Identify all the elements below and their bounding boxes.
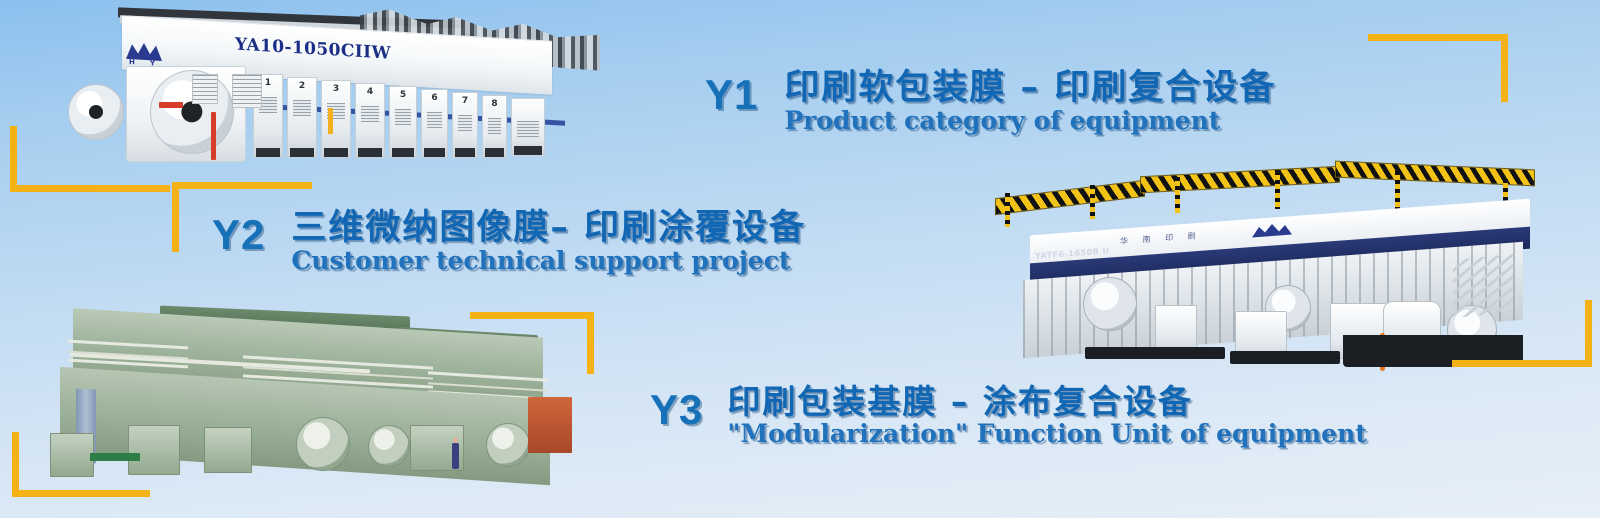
- press-unit-foot: [514, 146, 542, 155]
- y3-title-en: "Modularization" Function Unit of equipm…: [727, 421, 1366, 447]
- bracket-line-vertical: [10, 126, 17, 192]
- press-print-units: 1 2 3 4 5 6 7: [253, 74, 563, 166]
- safety-rail-post: [1395, 171, 1400, 211]
- y2-title-cn: 三维微纳图像膜– 印刷涂覆设备: [291, 210, 806, 247]
- press-control-panel-a: [192, 74, 218, 104]
- bracket-bottom-left: [12, 432, 150, 502]
- coater-roll: [486, 423, 530, 467]
- bracket-line-horizontal: [470, 312, 594, 319]
- laminator-brand-logo: [1250, 221, 1294, 240]
- text-group-y1: Y1 印刷软包装膜 – 印刷复合设备 Product category of e…: [705, 70, 1276, 134]
- bracket-line-horizontal: [1452, 360, 1592, 367]
- press-unit-number: 7: [453, 96, 477, 106]
- press-red-guard: [159, 102, 183, 108]
- press-unit-number: 4: [356, 87, 384, 97]
- press-brand-logo: H Y: [122, 39, 168, 68]
- bracket-line-horizontal: [12, 490, 150, 497]
- y1-title-cn: 印刷软包装膜 – 印刷复合设备: [784, 70, 1276, 107]
- coater-roll: [368, 425, 410, 467]
- press-unit-foot: [290, 148, 314, 157]
- press-unit: 6: [421, 89, 448, 158]
- press-unit-vent: [361, 106, 379, 122]
- press-unit-vent: [395, 109, 411, 125]
- y1-lines: 印刷软包装膜 – 印刷复合设备 Product category of equi…: [784, 70, 1276, 134]
- safety-rail-post: [1005, 193, 1010, 227]
- laminator-cabinet: [1155, 305, 1197, 353]
- reel-hub: [181, 101, 202, 122]
- press-unit-foot: [392, 148, 414, 157]
- press-yellow-marker: [328, 108, 333, 134]
- y2-title-en: Customer technical support project: [291, 248, 806, 274]
- bracket-top-right: [1368, 34, 1508, 108]
- press-unit: 4: [355, 83, 385, 158]
- press-unit-vent: [458, 115, 472, 131]
- press-unit: 7: [452, 92, 478, 158]
- y1-title-en: Product category of equipment: [784, 108, 1276, 134]
- banner-canvas: H Y YA10-1050CIIW 1 2 3 4: [0, 0, 1600, 518]
- bracket-line-horizontal: [1368, 34, 1508, 41]
- press-unit-foot: [424, 148, 445, 157]
- press-unit: 2: [287, 77, 317, 158]
- press-unit-number: 5: [390, 90, 416, 100]
- press-unit-foot: [358, 148, 382, 157]
- y3-title-cn: 印刷包装基膜 – 涂布复合设备: [727, 385, 1366, 420]
- safety-rail-post: [1275, 171, 1280, 209]
- press-unit-foot: [256, 148, 280, 157]
- bracket-line-vertical: [12, 432, 19, 496]
- coater-cabinet: [204, 427, 252, 473]
- bracket-line-vertical: [172, 182, 179, 252]
- press-unit-vent: [293, 100, 311, 116]
- press-unit-foot: [455, 148, 475, 157]
- safety-rail-post: [1090, 185, 1095, 219]
- bracket-line-vertical: [1585, 300, 1592, 366]
- bracket-line-vertical: [587, 312, 594, 374]
- safety-rail-top-mid: [1140, 166, 1340, 193]
- press-unit: 8: [482, 95, 507, 158]
- coater-red-module: [528, 397, 572, 453]
- press-unit-number: 6: [422, 93, 447, 103]
- bracket-mid-right: [470, 312, 594, 378]
- press-unit-foot: [324, 148, 348, 157]
- y3-code: Y3: [650, 389, 703, 431]
- laminator-base-frame: [1085, 347, 1225, 359]
- press-unit-foot: [485, 148, 504, 157]
- press-unit-number: 3: [322, 84, 350, 94]
- press-unit-number: 2: [288, 81, 316, 91]
- press-control-panel-b: [232, 74, 262, 108]
- laminator-base-frame: [1230, 351, 1340, 364]
- press-unit-end: [511, 98, 545, 156]
- press-unit: 3: [321, 80, 351, 158]
- press-unit-vent: [517, 121, 539, 137]
- reel-hub: [89, 105, 103, 119]
- press-unit-vent: [427, 112, 442, 128]
- laminator-drum: [1083, 277, 1137, 331]
- safety-rail-top-left: [995, 180, 1145, 215]
- bracket-line-horizontal: [10, 185, 170, 192]
- text-group-y3: Y3 印刷包装基膜 – 涂布复合设备 "Modularization" Func…: [650, 385, 1367, 447]
- bracket-top-left: [10, 126, 170, 198]
- press-red-post: [211, 112, 216, 160]
- bracket-line-vertical: [1501, 34, 1508, 102]
- coater-operator: [452, 443, 459, 469]
- text-group-y2: Y2 三维微纳图像膜– 印刷涂覆设备 Customer technical su…: [212, 210, 806, 274]
- press-unit-vent: [488, 118, 501, 134]
- bracket-line-horizontal: [172, 182, 312, 189]
- y2-lines: 三维微纳图像膜– 印刷涂覆设备 Customer technical suppo…: [291, 210, 806, 274]
- safety-rail-post: [1175, 177, 1180, 213]
- y1-code: Y1: [705, 74, 758, 116]
- y2-code: Y2: [212, 214, 265, 256]
- press-unit: 5: [389, 86, 417, 158]
- bracket-bottom-right: [1452, 300, 1592, 372]
- coater-roll: [296, 417, 350, 471]
- press-unit-number: 8: [483, 99, 506, 109]
- y3-lines: 印刷包装基膜 – 涂布复合设备 "Modularization" Functio…: [727, 385, 1366, 447]
